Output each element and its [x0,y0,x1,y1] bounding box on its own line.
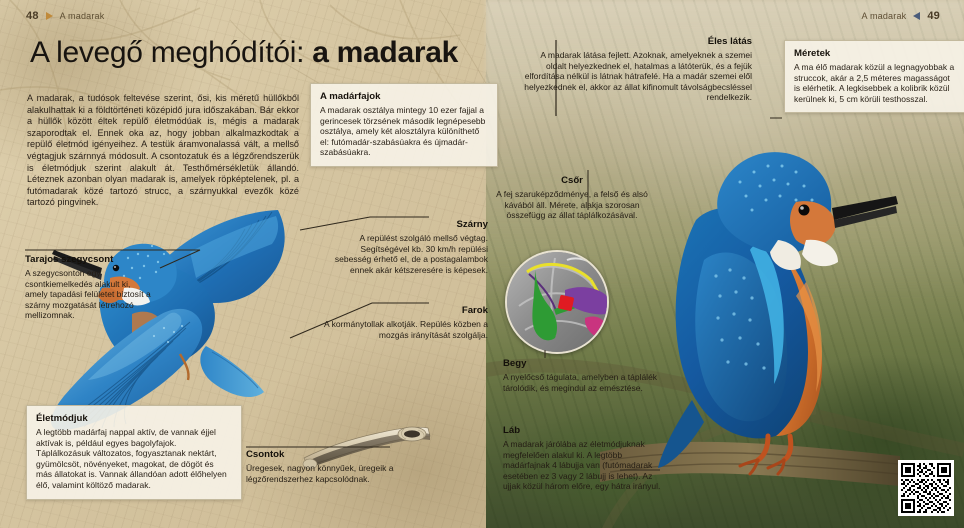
page-spread: 48 A madarak A madarak 49 A levegő meghó… [0,0,964,528]
callout-farok: Farok A kormánytollak alkotják. Repülés … [322,305,488,340]
callout-szarny-title: Szárny [334,219,488,230]
page-title-light: A levegő meghódítói: [30,36,312,69]
callout-tarajos-text: A szegycsonton egy csontkiemelkedés alak… [25,268,153,321]
callout-madarfajok-text: A madarak osztálya mintegy 10 ezer fajja… [320,105,488,158]
callout-csor: Csőr A fej szaruképződménye, a felső és … [492,175,652,221]
callout-farok-title: Farok [322,305,488,316]
header-left: 48 A madarak [26,10,104,22]
callout-lab-title: Láb [503,425,671,436]
folio-right: 49 [927,10,940,22]
page-title-bold: a madarak [312,36,458,69]
callout-tarajos-title: Tarajos szegycsont [25,254,153,265]
callout-meretek: Méretek A ma élő madarak közül a legnagy… [784,40,964,113]
triangle-left-icon [913,12,920,20]
triangle-right-icon [46,12,53,20]
page-title: A levegő meghódítói: a madarak [30,36,458,70]
header-right: A madarak 49 [862,10,940,22]
callout-tarajos-szegycsont: Tarajos szegycsont A szegycsonton egy cs… [25,254,153,321]
bird-crop-anatomy-diagram [505,250,609,354]
callout-meretek-text: A ma élő madarak közül a legnagyobbak a … [794,62,956,104]
callout-eles-latas-text: A madarak látása fejlett. Azoknak, amely… [520,50,752,103]
header-left-topic: A madarak [60,11,105,21]
callout-eles-latas-title: Éles látás [520,36,752,47]
callout-begy-title: Begy [503,358,663,369]
callout-farok-text: A kormánytollak alkotják. Repülés közben… [322,319,488,340]
callout-csor-title: Csőr [492,175,652,186]
callout-csontok: Csontok Üregesek, nagyon könnyűek, ürege… [246,449,424,484]
qr-code[interactable] [898,460,954,516]
callout-begy: Begy A nyelőcső tágulata, amelyben a táp… [503,358,663,393]
callout-madarfajok: A madárfajok A madarak osztálya mintegy … [310,83,498,167]
callout-lab: Láb A madarak járólába az életmódjuknak … [503,425,671,492]
callout-meretek-title: Méretek [794,48,956,59]
callout-eletmodjuk-title: Életmódjuk [36,413,232,424]
callout-csontok-title: Csontok [246,449,424,460]
header-right-topic: A madarak [862,11,907,21]
callout-szarny-text: A repülést szolgáló mellső végtag. Segít… [334,233,488,275]
callout-eles-latas: Éles látás A madarak látása fejlett. Azo… [520,36,752,103]
intro-paragraph: A madarak, a tudósok feltevése szerint, … [27,93,299,209]
callout-eletmodjuk-text: A legtöbb madárfaj nappal aktív, de vann… [36,427,232,491]
callout-csontok-text: Üregesek, nagyon könnyűek, üregeik a lég… [246,463,424,484]
folio-left: 48 [26,10,39,22]
callout-eletmodjuk: Életmódjuk A legtöbb madárfaj nappal akt… [26,405,242,500]
callout-madarfajok-title: A madárfajok [320,91,488,102]
callout-szarny: Szárny A repülést szolgáló mellső végtag… [334,219,488,275]
callout-lab-text: A madarak járólába az életmódjuknak megf… [503,439,671,492]
callout-begy-text: A nyelőcső tágulata, amelyben a táplálék… [503,372,663,393]
callout-csor-text: A fej szaruképződménye, a felső és alsó … [492,189,652,221]
